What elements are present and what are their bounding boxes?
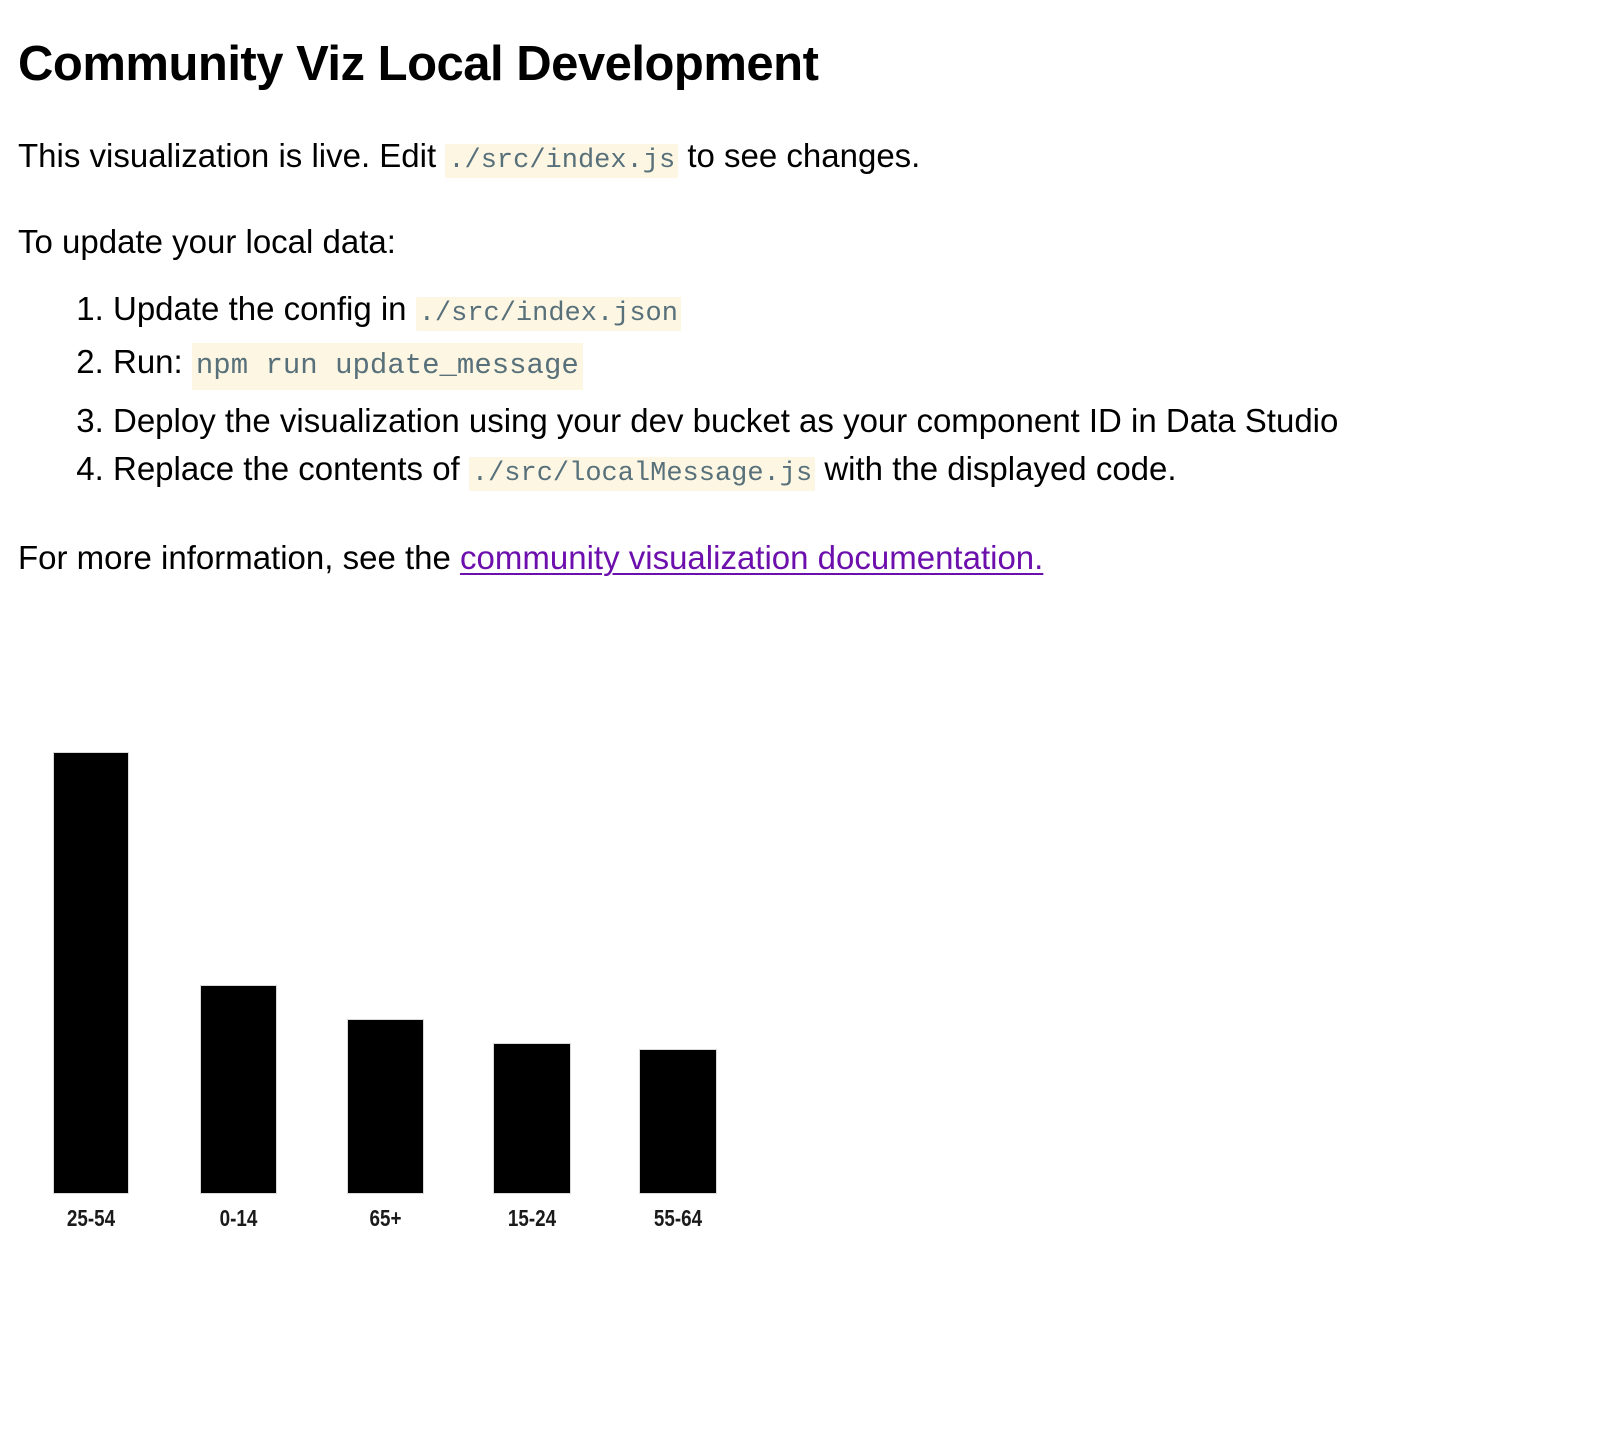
inline-code-local-message-js: ./src/localMessage.js [469,457,815,491]
x-tick-label-55-64: 55-64 [622,1205,734,1232]
step-1-text: Update the config in [113,290,416,327]
steps-list: Update the config in ./src/index.json Ru… [18,286,1578,494]
x-tick-label-0-14: 0-14 [183,1205,294,1232]
inline-code-index-json: ./src/index.json [416,297,681,331]
step-4-text-after: with the displayed code. [815,450,1176,487]
page-root: Community Viz Local Development This vis… [0,0,1600,1435]
inline-code-index-js: ./src/index.js [445,144,678,178]
bar-25-54[interactable] [54,753,128,1193]
bar-65-plus[interactable] [348,1020,423,1193]
x-tick-label-25-54: 25-54 [36,1205,146,1232]
community-visualization-documentation-link[interactable]: community visualization documentation. [460,539,1043,576]
more-info-paragraph: For more information, see the community … [18,537,1578,579]
intro-text-after: to see changes. [678,137,920,174]
page-title: Community Viz Local Development [18,38,1578,92]
list-item: Run: npm run update_message [113,335,1578,396]
step-2-text: Run: [113,343,183,380]
chart-plot-area: 25-54 0-14 65+ 15-24 55-64 [0,700,800,1193]
bar-chart: 25-54 0-14 65+ 15-24 55-64 [0,700,800,1260]
bar-55-64[interactable] [640,1050,716,1193]
intro-paragraph: This visualization is live. Edit ./src/i… [18,135,1578,179]
list-item: Replace the contents of ./src/localMessa… [113,446,1578,494]
list-item: Update the config in ./src/index.json [113,286,1578,334]
list-item: Deploy the visualization using your dev … [113,398,1578,444]
more-info-text: For more information, see the [18,539,460,576]
bar-0-14[interactable] [201,986,276,1193]
x-tick-label-65-plus: 65+ [330,1205,441,1232]
step-4-text-before: Replace the contents of [113,450,469,487]
document-body: Community Viz Local Development This vis… [18,38,1578,579]
x-tick-label-15-24: 15-24 [476,1205,588,1232]
update-instructions-lead: To update your local data: [18,221,1578,263]
step-3-text: Deploy the visualization using your dev … [113,402,1338,439]
bar-15-24[interactable] [494,1044,570,1193]
code-block-npm-run: npm run update_message [192,343,583,390]
intro-text-before: This visualization is live. Edit [18,137,445,174]
